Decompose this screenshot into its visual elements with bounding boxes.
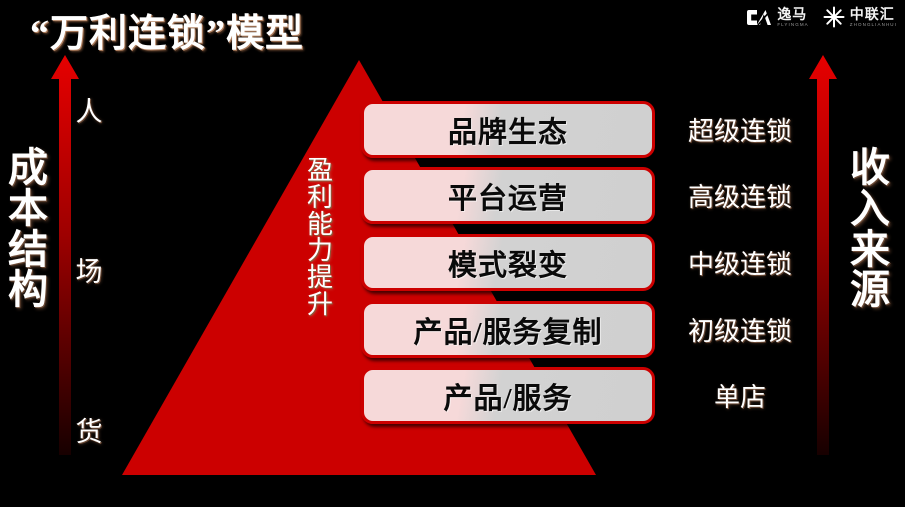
profitability-char-3: 力 [303, 238, 337, 265]
revenue-source-char-3: 源 [846, 270, 894, 311]
logo-yima-en: FLYINGMA [777, 23, 808, 28]
revenue-source-label: 收 入 来 源 [846, 148, 894, 311]
ca-monogram-icon [746, 9, 772, 26]
tier-label: 超级连锁 [670, 101, 810, 158]
logo-bar: 逸马 FLYINGMA 中联汇 ZHONGLIANHUI [746, 6, 897, 28]
cost-item-ren: 人 [72, 90, 106, 129]
cost-structure-char-3: 构 [4, 270, 52, 311]
stage-box-list: 品牌生态 平台运营 模式裂变 产品/服务复制 产品/服务 [361, 101, 655, 424]
logo-yima-cn: 逸马 [777, 7, 808, 21]
cost-item-chang: 场 [72, 250, 106, 289]
cost-item-huo: 货 [72, 410, 106, 449]
stage-box-label: 产品/服务 [443, 375, 572, 417]
profitability-label: 盈 利 能 力 提 升 [303, 158, 337, 319]
cost-structure-label: 成 本 结 构 [4, 148, 52, 311]
tier-label: 高级连锁 [670, 167, 810, 224]
logo-zhonglianhui: 中联汇 ZHONGLIANHUI [823, 6, 897, 28]
cost-structure-char-2: 结 [4, 230, 52, 271]
logo-zhonglianhui-cn: 中联汇 [850, 7, 897, 21]
revenue-source-char-1: 入 [846, 189, 894, 230]
stage-box-label: 平台运营 [448, 175, 568, 217]
stage-box[interactable]: 产品/服务复制 [361, 301, 655, 358]
tier-label: 单店 [670, 367, 810, 424]
revenue-source-char-2: 来 [846, 230, 894, 271]
cost-structure-char-1: 本 [4, 189, 52, 230]
stage-box-label: 品牌生态 [448, 109, 568, 151]
logo-zhonglianhui-en: ZHONGLIANHUI [850, 23, 897, 28]
profitability-char-5: 升 [303, 292, 337, 319]
logo-yima-text: 逸马 FLYINGMA [777, 7, 808, 28]
logo-yima: 逸马 FLYINGMA [746, 7, 808, 28]
stage-box-label: 模式裂变 [448, 242, 568, 284]
tier-label-list: 超级连锁 高级连锁 中级连锁 初级连锁 单店 [670, 101, 810, 424]
page-title: “万利连锁”模型 [30, 2, 304, 57]
stage-box[interactable]: 模式裂变 [361, 234, 655, 291]
stage-box-label: 产品/服务复制 [413, 309, 602, 351]
profitability-char-1: 利 [303, 185, 337, 212]
stage-box[interactable]: 平台运营 [361, 167, 655, 224]
tier-label: 中级连锁 [670, 234, 810, 291]
cost-structure-items: 人 场 货 [72, 78, 106, 458]
stage-box[interactable]: 品牌生态 [361, 101, 655, 158]
revenue-source-char-0: 收 [846, 148, 894, 189]
cost-structure-char-0: 成 [4, 148, 52, 189]
snowflake-icon [823, 6, 845, 28]
profitability-char-0: 盈 [303, 158, 337, 185]
stage-box[interactable]: 产品/服务 [361, 367, 655, 424]
slide-canvas: “万利连锁”模型 逸马 FLYINGMA [0, 0, 905, 507]
profitability-char-2: 能 [303, 212, 337, 239]
tier-label: 初级连锁 [670, 301, 810, 358]
revenue-source-arrow-icon [806, 55, 840, 455]
logo-zhonglianhui-text: 中联汇 ZHONGLIANHUI [850, 7, 897, 28]
profitability-char-4: 提 [303, 265, 337, 292]
